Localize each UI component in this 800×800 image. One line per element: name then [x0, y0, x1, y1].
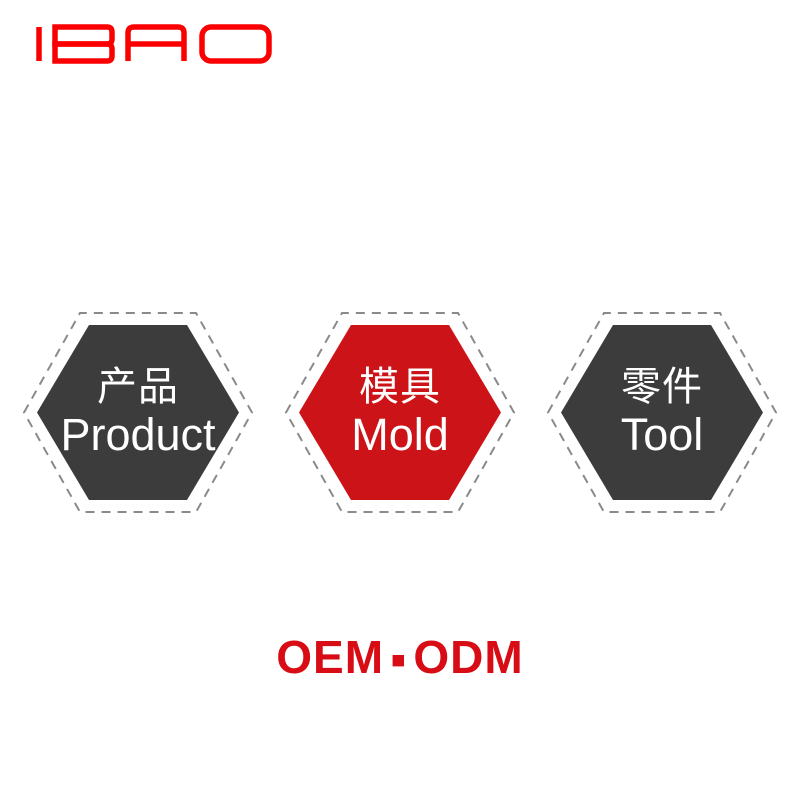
tagline-oem: OEM: [276, 631, 384, 683]
hexagon-shape-mold: [266, 300, 534, 525]
hexagon-fill: [561, 325, 763, 500]
hexagon-card-mold[interactable]: 模具 Mold: [266, 300, 534, 525]
hexagon-shape-product: [4, 300, 272, 525]
hexagon-fill: [37, 325, 239, 500]
tagline-separator-icon: ▪: [384, 632, 413, 686]
hexagon-row: 产品 Product 模具 Mold 零件 Tool: [0, 300, 800, 525]
tagline-odm: ODM: [413, 631, 523, 683]
hexagon-card-tool[interactable]: 零件 Tool: [528, 300, 796, 525]
hexagon-fill: [299, 325, 501, 500]
brand-logo: IBAO: [36, 22, 272, 66]
promo-graphic-canvas: IBAO 产品 Product 模具 Mold: [0, 0, 800, 800]
footer-tagline: OEM▪ODM: [0, 630, 800, 688]
ibao-wordmark-icon: [36, 22, 272, 66]
hexagon-card-product[interactable]: 产品 Product: [4, 300, 272, 525]
hexagon-shape-tool: [528, 300, 796, 525]
